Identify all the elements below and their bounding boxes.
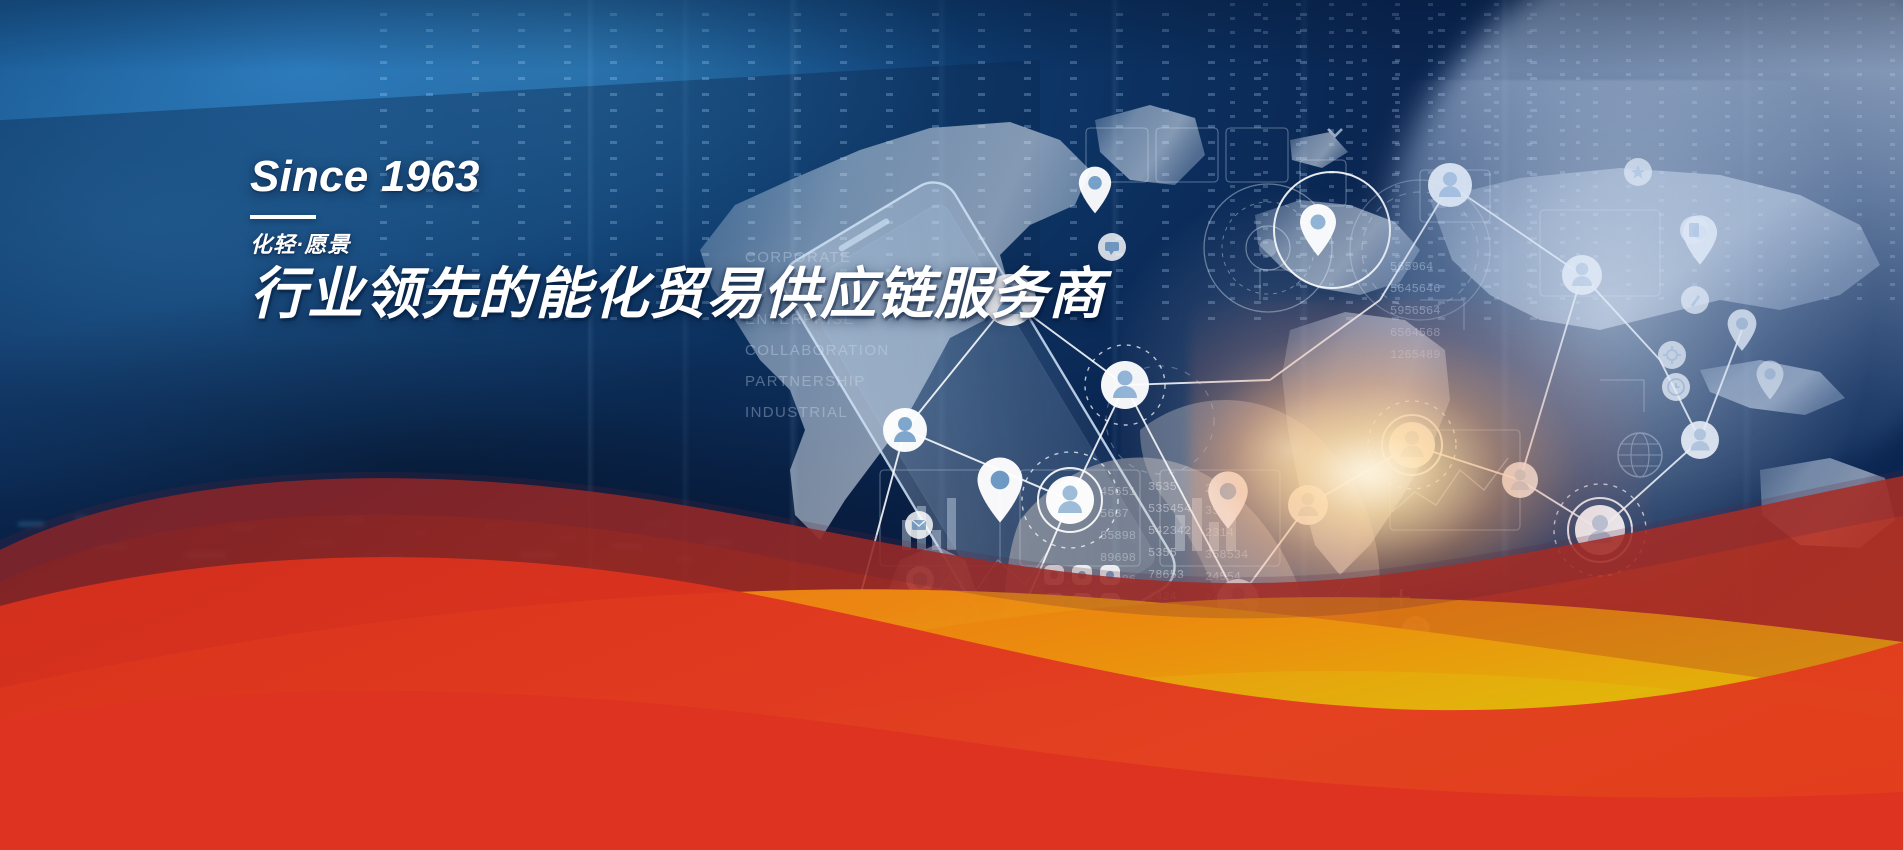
top-edge-shade [0, 0, 1903, 70]
hero-subtitle: 化轻·愿景 [250, 233, 1250, 257]
hero-headline: 行业领先的能化贸易供应链服务商 [250, 261, 1250, 327]
hero-copy-block: Since 1963 化轻·愿景 行业领先的能化贸易供应链服务商 [250, 155, 1250, 327]
svg-text:INDUSTRIAL: INDUSTRIAL [745, 404, 848, 421]
bottom-wave-graphic [0, 420, 1903, 850]
hero-banner: CORPORATE SUCCESS ENTERPRISE COLLABORATI… [0, 0, 1903, 850]
since-label: Since 1963 [250, 155, 1250, 199]
title-divider [250, 215, 316, 219]
